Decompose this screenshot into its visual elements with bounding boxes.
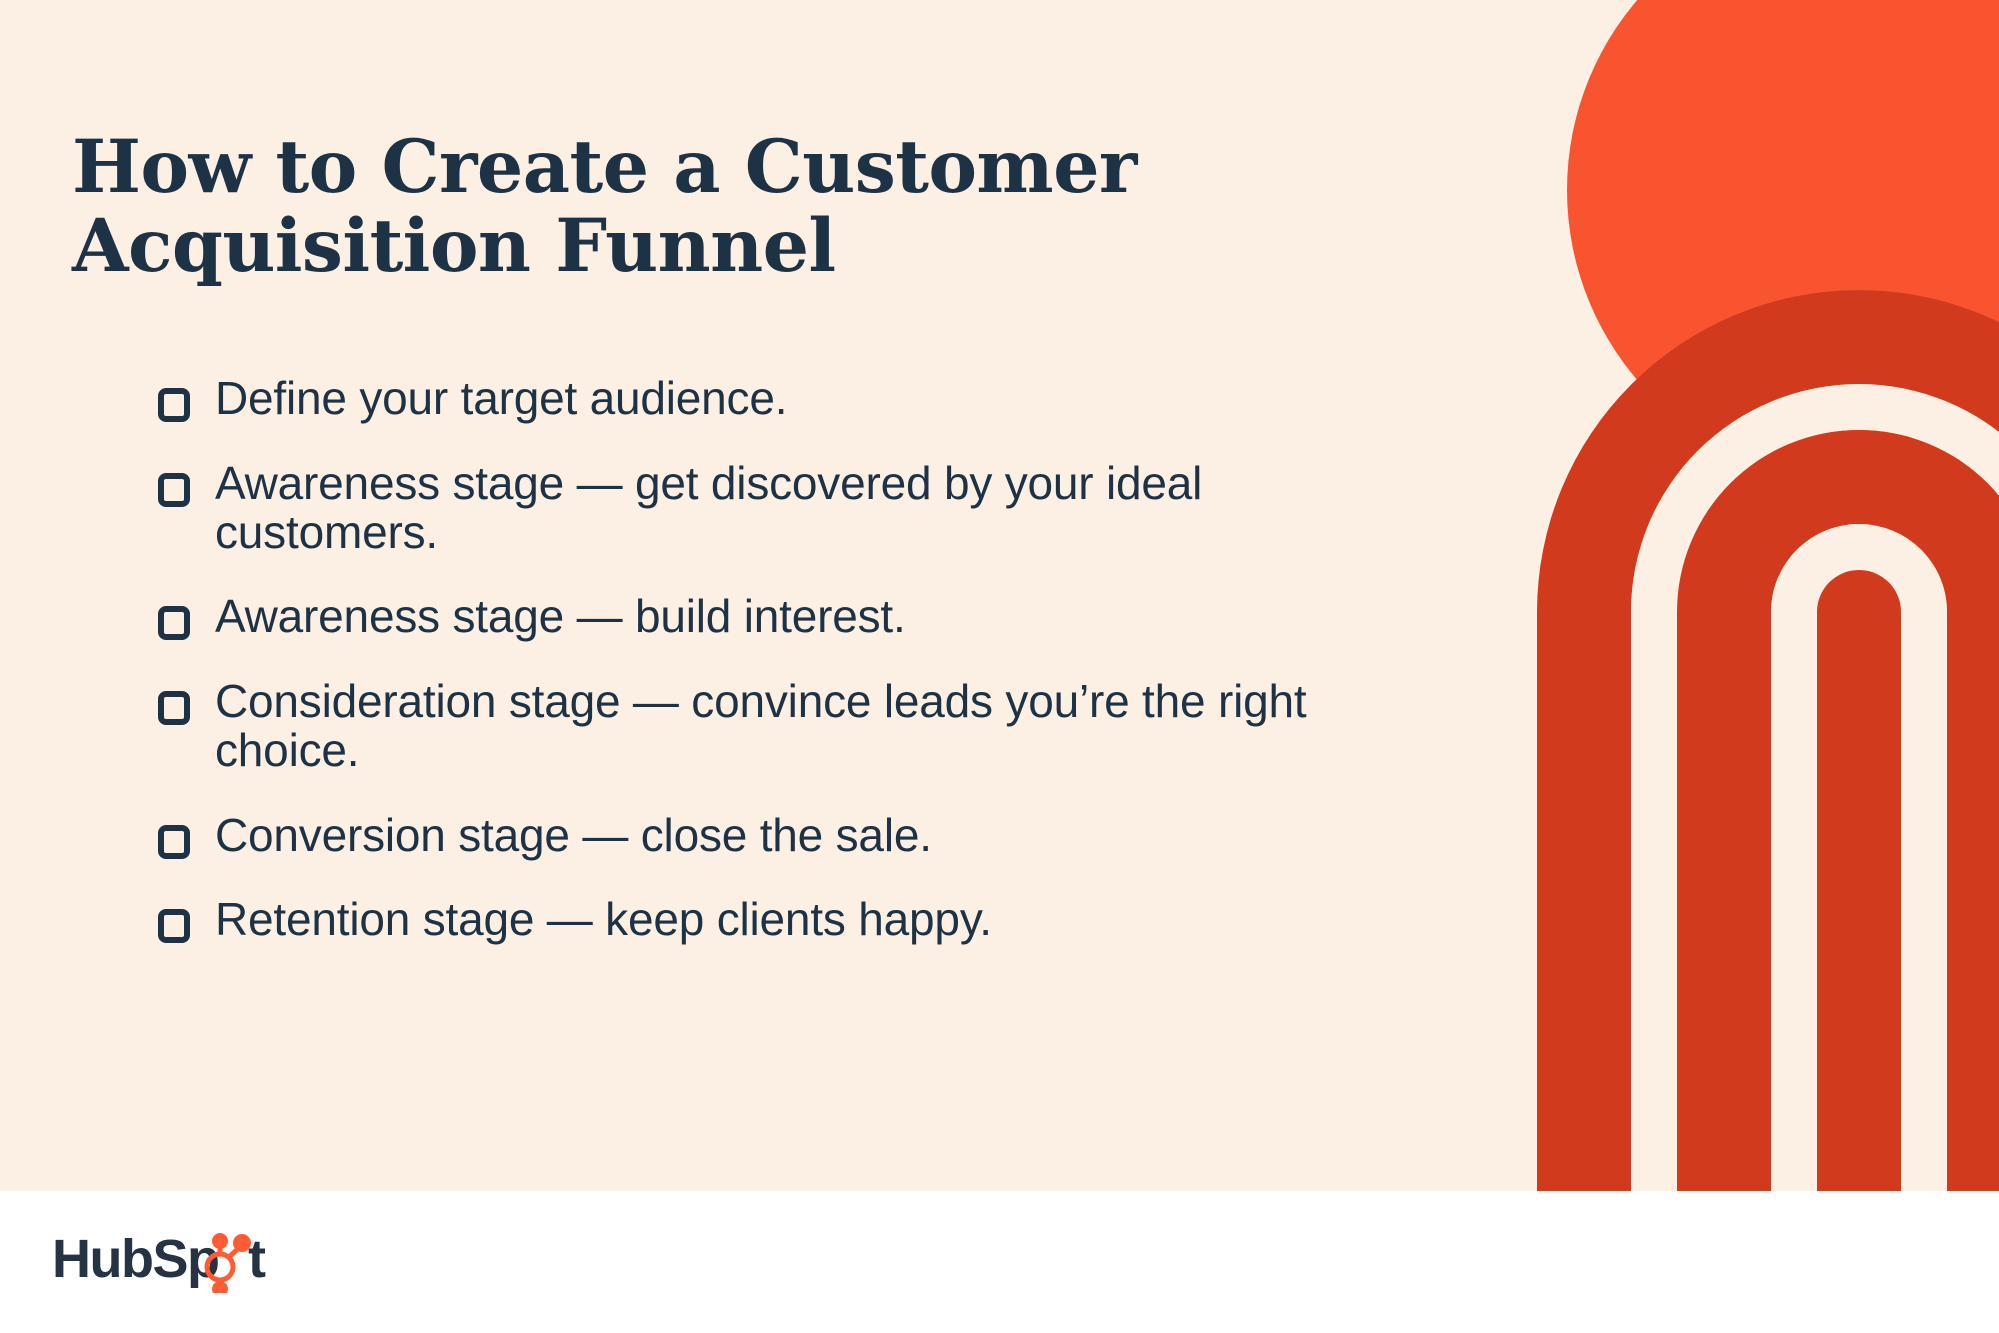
checkbox-icon[interactable] xyxy=(158,825,190,859)
orange-circle-shape xyxy=(1567,0,1999,482)
list-item-label: Retention stage — keep clients happy. xyxy=(215,895,992,944)
list-item[interactable]: Consideration stage — convince leads you… xyxy=(158,677,1338,775)
list-item-label: Awareness stage — get discovered by your… xyxy=(215,459,1335,557)
hubspot-wordmark-after: t xyxy=(248,1231,266,1289)
footer-bar: HubSp t xyxy=(0,1191,1999,1333)
infographic-card: How to Create a Customer Acquisition Fun… xyxy=(0,0,1999,1333)
list-item[interactable]: Conversion stage — close the sale. xyxy=(158,811,1338,860)
list-item[interactable]: Retention stage — keep clients happy. xyxy=(158,895,1338,944)
hubspot-wordmark-before: HubSp xyxy=(52,1231,218,1289)
checkbox-icon[interactable] xyxy=(158,909,190,943)
list-item[interactable]: Awareness stage — get discovered by your… xyxy=(158,459,1338,557)
checklist: Define your target audience. Awareness s… xyxy=(158,374,1338,944)
list-item-label: Awareness stage — build interest. xyxy=(215,592,906,641)
decorative-graphic xyxy=(1439,0,1999,1191)
checkbox-icon[interactable] xyxy=(158,606,190,640)
list-item[interactable]: Awareness stage — build interest. xyxy=(158,592,1338,641)
checkbox-icon[interactable] xyxy=(158,691,190,725)
arch-inner-dark xyxy=(1817,570,1901,1191)
content-canvas: How to Create a Customer Acquisition Fun… xyxy=(0,0,1999,1191)
checkbox-icon[interactable] xyxy=(158,473,190,507)
list-item-label: Define your target audience. xyxy=(215,374,787,423)
arch-gap-2 xyxy=(1771,524,1947,1191)
arch-outer-dark xyxy=(1537,290,1999,1191)
page-title: How to Create a Customer Acquisition Fun… xyxy=(72,128,1192,286)
checkbox-icon[interactable] xyxy=(158,388,190,422)
list-item-label: Conversion stage — close the sale. xyxy=(215,811,932,860)
arch-gap-1 xyxy=(1631,384,1999,1191)
hubspot-logo[interactable]: HubSp t xyxy=(52,1229,292,1295)
list-item-label: Consideration stage — convince leads you… xyxy=(215,677,1335,775)
list-item[interactable]: Define your target audience. xyxy=(158,374,1338,423)
arch-second-dark xyxy=(1677,430,1999,1191)
